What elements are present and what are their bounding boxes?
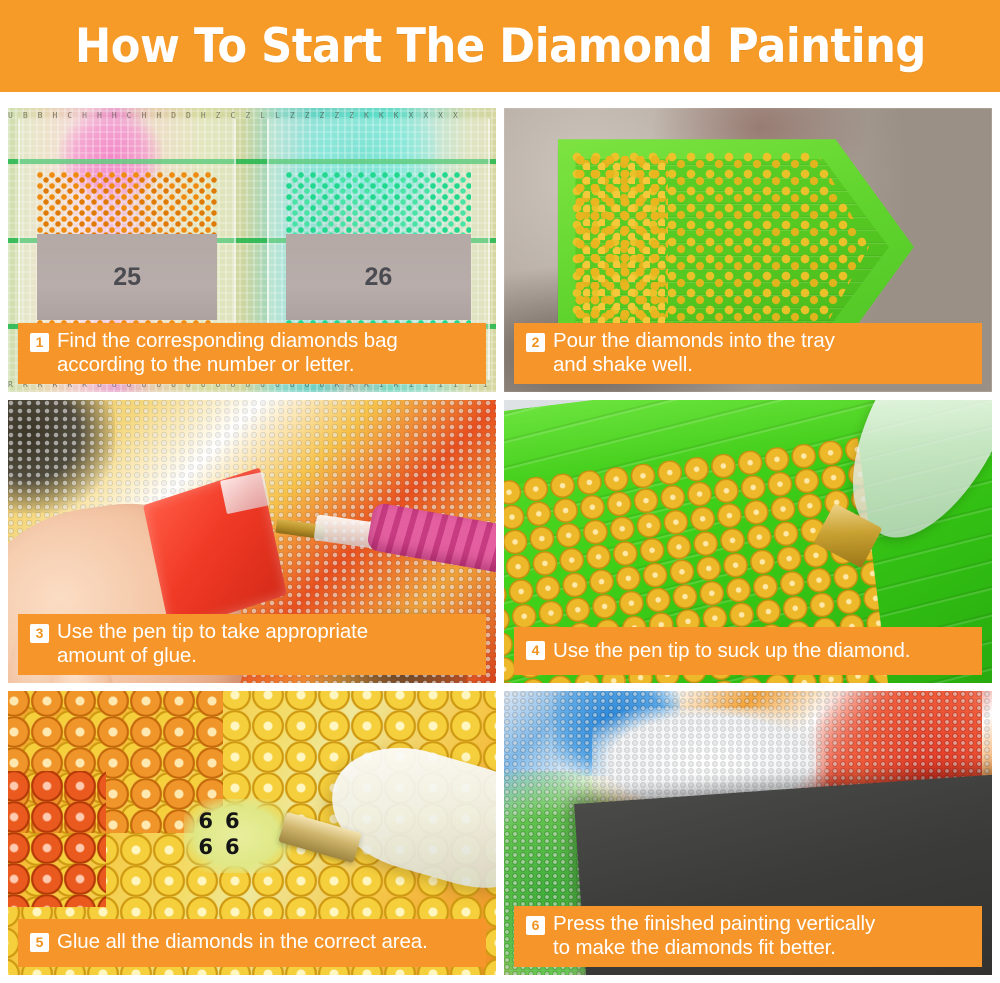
step-panel-3: 3 Use the pen tip to take appropriate am… (8, 400, 496, 684)
step-panel-6: 6 Press the finished painting vertically… (504, 691, 992, 975)
step-panel-1: U B B H C H H H C H H D D H Z C Z L L Z … (8, 108, 496, 392)
infographic-poster: How To Start The Diamond Painting U B B … (0, 0, 1000, 983)
step-caption-line1-6: Press the finished painting vertically (553, 912, 875, 935)
step-caption-text-1: Find the corresponding diamonds bag acco… (57, 329, 398, 377)
canvas-code-4: 6 (225, 835, 252, 859)
step-caption-line1-5: Glue all the diamonds in the correct are… (57, 930, 428, 953)
step-number-badge-5: 5 (30, 933, 49, 952)
step-number-badge-2: 2 (526, 333, 545, 352)
step-caption-text-4: Use the pen tip to suck up the diamond. (553, 639, 910, 663)
step-caption-6: 6 Press the finished painting vertically… (514, 906, 982, 967)
step-caption-3: 3 Use the pen tip to take appropriate am… (18, 614, 486, 675)
step-caption-4: 4 Use the pen tip to suck up the diamond… (514, 627, 982, 675)
step-panel-5: 66 66 5 Glue all the diamonds in the cor… (8, 691, 496, 975)
step-caption-line2-3: amount of glue. (57, 644, 368, 668)
canvas-code-3: 6 (198, 835, 225, 859)
step-caption-line1-1: Find the corresponding diamonds bag (57, 329, 398, 352)
step-number-badge-6: 6 (526, 916, 545, 935)
page-title: How To Start The Diamond Painting (75, 19, 926, 74)
bag-26-beads-upper (286, 172, 470, 235)
steps-grid: U B B H C H H H C H H D D H Z C Z L L Z … (8, 108, 992, 975)
step-caption-5: 5 Glue all the diamonds in the correct a… (18, 919, 486, 967)
step-number-badge-1: 1 (30, 333, 49, 352)
step-caption-text-3: Use the pen tip to take appropriate amou… (57, 620, 368, 668)
step-panel-2: 2 Pour the diamonds into the tray and sh… (504, 108, 992, 392)
step-panel-4: 4 Use the pen tip to suck up the diamond… (504, 400, 992, 684)
red-diamond-field (8, 771, 106, 907)
step-caption-line1-4: Use the pen tip to suck up the diamond. (553, 639, 910, 662)
step-caption-line1-2: Pour the diamonds into the tray (553, 329, 835, 352)
canvas-code-1: 6 (198, 809, 225, 833)
bag-25-label: 25 (37, 234, 217, 320)
step-caption-text-5: Glue all the diamonds in the correct are… (57, 930, 428, 954)
step-caption-1: 1 Find the corresponding diamonds bag ac… (18, 323, 486, 384)
canvas-code-2: 6 (225, 809, 252, 833)
tray-diamonds-pile (575, 156, 668, 337)
canvas-code-numbers: 66 66 (198, 808, 276, 860)
step-number-badge-3: 3 (30, 624, 49, 643)
header-banner: How To Start The Diamond Painting (0, 0, 1000, 92)
step-caption-text-2: Pour the diamonds into the tray and shak… (553, 329, 835, 377)
step-caption-line1-3: Use the pen tip to take appropriate (57, 620, 368, 643)
step-caption-line2-1: according to the number or letter. (57, 353, 398, 377)
step-caption-2: 2 Pour the diamonds into the tray and sh… (514, 323, 982, 384)
bag-25-beads-upper (37, 172, 217, 235)
step-caption-text-6: Press the finished painting vertically t… (553, 912, 875, 960)
step-caption-line2-2: and shake well. (553, 353, 835, 377)
bag-26-label: 26 (286, 234, 470, 320)
step-number-badge-4: 4 (526, 641, 545, 660)
step-caption-line2-6: to make the diamonds fit better. (553, 936, 875, 960)
